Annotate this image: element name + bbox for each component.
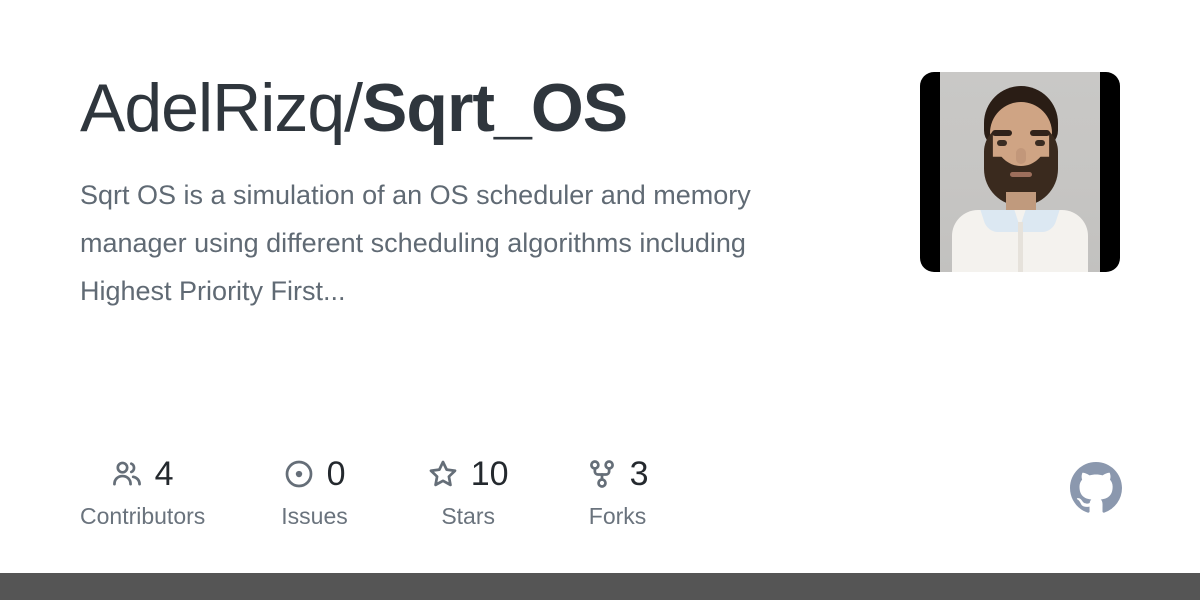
bottom-bar [0,573,1200,600]
avatar-eye-left [997,140,1007,146]
stat-contributors-top: 4 [112,452,174,496]
stat-issues: 0 Issues [281,452,347,528]
repository-name: Sqrt_OS [362,70,627,146]
github-logo-icon [1070,462,1122,514]
stat-stars-top: 10 [428,452,509,496]
repository-social-preview-card: AdelRizq/Sqrt_OS Sqrt OS is a simulation… [0,0,1200,573]
stat-stars-value: 10 [471,457,509,491]
avatar-photo [940,72,1100,272]
people-icon [112,459,142,489]
avatar-brow-right [1030,130,1050,136]
repository-owner: AdelRizq [80,70,344,146]
stat-issues-label: Issues [281,505,347,528]
stat-stars-label: Stars [441,505,495,528]
avatar-eye-right [1035,140,1045,146]
avatar-shirt-placket [1018,222,1023,272]
stat-contributors-value: 4 [155,457,174,491]
avatar [920,72,1120,272]
avatar-mouth [1010,172,1032,177]
stat-forks-value: 3 [630,457,649,491]
stat-forks: 3 Forks [587,452,649,528]
title-separator: / [344,70,362,146]
card-header: AdelRizq/Sqrt_OS Sqrt OS is a simulation… [80,72,1120,315]
stat-forks-top: 3 [587,452,649,496]
avatar-brow-left [992,130,1012,136]
stat-contributors-label: Contributors [80,505,205,528]
repo-forked-icon [587,459,617,489]
stat-contributors: 4 Contributors [80,452,205,528]
stat-issues-value: 0 [327,457,346,491]
repository-headings: AdelRizq/Sqrt_OS Sqrt OS is a simulation… [80,72,800,315]
repository-stats: 4 Contributors 0 Issues 10 Stars [80,452,649,528]
issue-opened-icon [284,459,314,489]
stat-stars: 10 Stars [428,452,509,528]
stat-issues-top: 0 [284,452,346,496]
repository-description: Sqrt OS is a simulation of an OS schedul… [80,171,790,315]
stat-forks-label: Forks [589,505,647,528]
avatar-nose [1016,148,1026,164]
page-title: AdelRizq/Sqrt_OS [80,72,800,145]
star-icon [428,459,458,489]
